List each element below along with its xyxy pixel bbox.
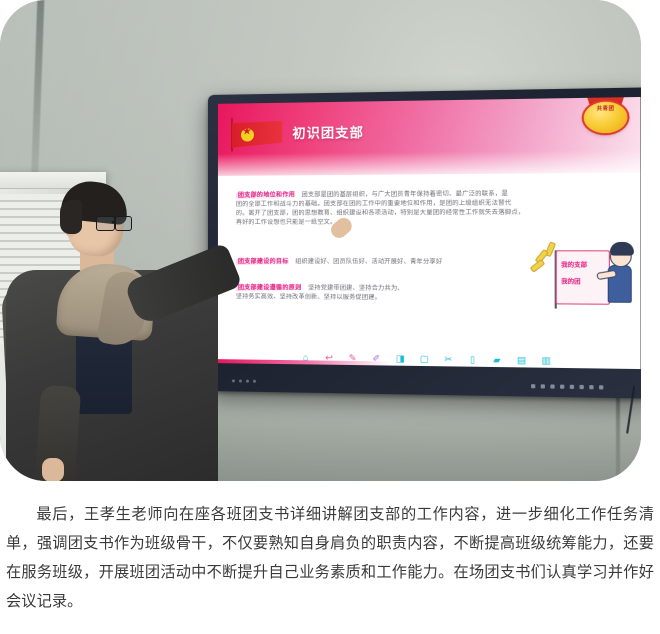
article-caption: 最后，王孝生老师向在座各班团支书详细讲解团支部的工作内容，进一步细化工作任务清单… bbox=[0, 500, 660, 616]
presenter-glasses bbox=[96, 216, 132, 229]
emblem-badge-icon: 共青团 bbox=[582, 97, 630, 136]
student-holding-board-illustration: 我的支部 我的团 bbox=[534, 240, 634, 313]
control-button[interactable] bbox=[531, 384, 535, 388]
display-indicator-dots bbox=[232, 379, 256, 382]
badge-text: 共青团 bbox=[582, 105, 630, 113]
presenter-lower-hand bbox=[42, 458, 64, 481]
control-button[interactable] bbox=[541, 384, 545, 388]
indicator-dot bbox=[232, 379, 235, 382]
indicator-dot bbox=[253, 380, 256, 383]
cartoon-figure-hair bbox=[610, 242, 634, 256]
control-button[interactable] bbox=[550, 384, 554, 388]
slide-block-1: 团支部的地位和作用 团支部是团的基层组织，与广大团员青年保持着密切、最广泛的联系… bbox=[236, 185, 625, 228]
slide-block-3-text-1: 坚持党建带团建、坚持合力共为、 bbox=[308, 285, 404, 292]
caption-paragraph: 最后，王孝生老师向在座各班团支书详细讲解团支部的工作内容，进一步细化工作任务清单… bbox=[6, 500, 654, 616]
indicator-dot bbox=[246, 380, 249, 383]
communist-youth-league-flag-icon bbox=[232, 117, 284, 152]
slide-block-1-heading: 团支部的地位和作用 bbox=[236, 192, 297, 198]
glasses-lens-right bbox=[115, 216, 132, 231]
flag-star bbox=[241, 128, 254, 141]
meeting-photo: 初识团支部 共青团 团支部的地位和作用 团支部是团的基层组织，与广大团员青年保持… bbox=[0, 0, 641, 481]
home-icon[interactable]: ⌂ bbox=[301, 353, 310, 362]
save-icon[interactable]: ▤ bbox=[517, 356, 527, 365]
indicator-dot bbox=[239, 379, 242, 382]
eraser-icon[interactable]: ◨ bbox=[396, 354, 405, 363]
control-button[interactable] bbox=[579, 385, 583, 389]
slide-block-1-text-1: 团支部是团的基层组织，与广大团员青年保持着密切、最广泛的联系，是 bbox=[302, 191, 508, 198]
slide-block-3-heading: 团支部建设遵循的原则 bbox=[236, 285, 304, 291]
slide-title: 初识团支部 bbox=[292, 122, 364, 142]
display-screen: 初识团支部 共青团 团支部的地位和作用 团支部是团的基层组织，与广大团员青年保持… bbox=[218, 97, 641, 369]
presentation-slide: 初识团支部 共青团 团支部的地位和作用 团支部是团的基层组织，与广大团员青年保持… bbox=[218, 97, 641, 369]
shape-icon[interactable]: ▢ bbox=[419, 355, 428, 364]
flag-cloth bbox=[232, 121, 282, 148]
highlighter-icon[interactable]: ✐ bbox=[372, 354, 381, 363]
cartoon-board-line-2: 我的团 bbox=[561, 276, 580, 285]
scissors-icon[interactable]: ✂ bbox=[444, 355, 453, 364]
control-button[interactable] bbox=[589, 385, 593, 389]
delete-icon[interactable]: ▯ bbox=[468, 355, 478, 364]
note-icon[interactable]: ▥ bbox=[541, 356, 551, 365]
undo-icon[interactable]: ↩ bbox=[324, 353, 333, 362]
slide-body: 团支部的地位和作用 团支部是团的基层组织，与广大团员青年保持着密切、最广泛的联系… bbox=[218, 173, 641, 369]
slide-block-2-heading: 团支部建设的目标 bbox=[236, 259, 291, 265]
glasses-lens-left bbox=[96, 216, 115, 231]
control-button[interactable] bbox=[599, 385, 603, 389]
interactive-smart-board: 初识团支部 共青团 团支部的地位和作用 团支部是团的基层组织，与广大团员青年保持… bbox=[208, 87, 641, 398]
cartoon-board-line-1: 我的支部 bbox=[561, 260, 587, 269]
presenter-hair-side bbox=[60, 200, 82, 234]
control-button[interactable] bbox=[560, 385, 564, 389]
presenter-figure bbox=[10, 186, 222, 481]
slide-header-banner: 初识团支部 共青团 bbox=[218, 97, 641, 180]
control-button[interactable] bbox=[570, 385, 574, 389]
slide-block-2-text-1: 组织建设好、团员队伍好、活动开展好、青年分享好 bbox=[295, 259, 442, 265]
slide-block-1-line-4: 再好的工作设想也只能是一纸空文。 bbox=[236, 218, 625, 228]
pen-icon[interactable]: ✎ bbox=[348, 354, 357, 363]
folder-icon[interactable]: ▰ bbox=[492, 356, 502, 365]
